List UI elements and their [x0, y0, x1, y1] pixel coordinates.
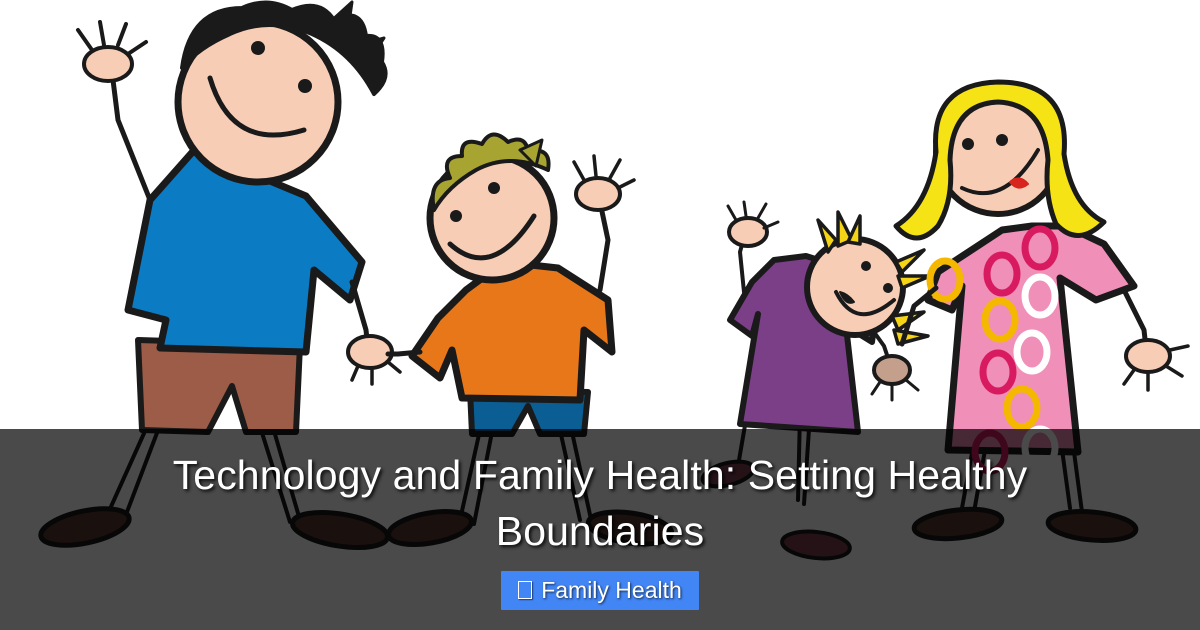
eye	[450, 210, 462, 222]
hand	[84, 47, 132, 81]
hand	[576, 178, 620, 210]
missing-glyph-icon	[518, 581, 532, 599]
hand	[348, 336, 392, 368]
eye	[962, 138, 974, 150]
eye	[861, 261, 871, 271]
eye	[996, 134, 1008, 146]
category-badge[interactable]: Family Health	[501, 571, 699, 610]
overlay-content: Technology and Family Health: Setting He…	[0, 429, 1200, 630]
eye	[251, 41, 265, 55]
eye	[488, 182, 500, 194]
eye	[883, 283, 893, 293]
page-title: Technology and Family Health: Setting He…	[75, 447, 1125, 559]
eye	[298, 79, 312, 93]
hand	[729, 218, 767, 246]
social-share-card: Technology and Family Health: Setting He…	[0, 0, 1200, 630]
category-badge-label: Family Health	[541, 577, 682, 603]
hand	[1126, 340, 1170, 372]
